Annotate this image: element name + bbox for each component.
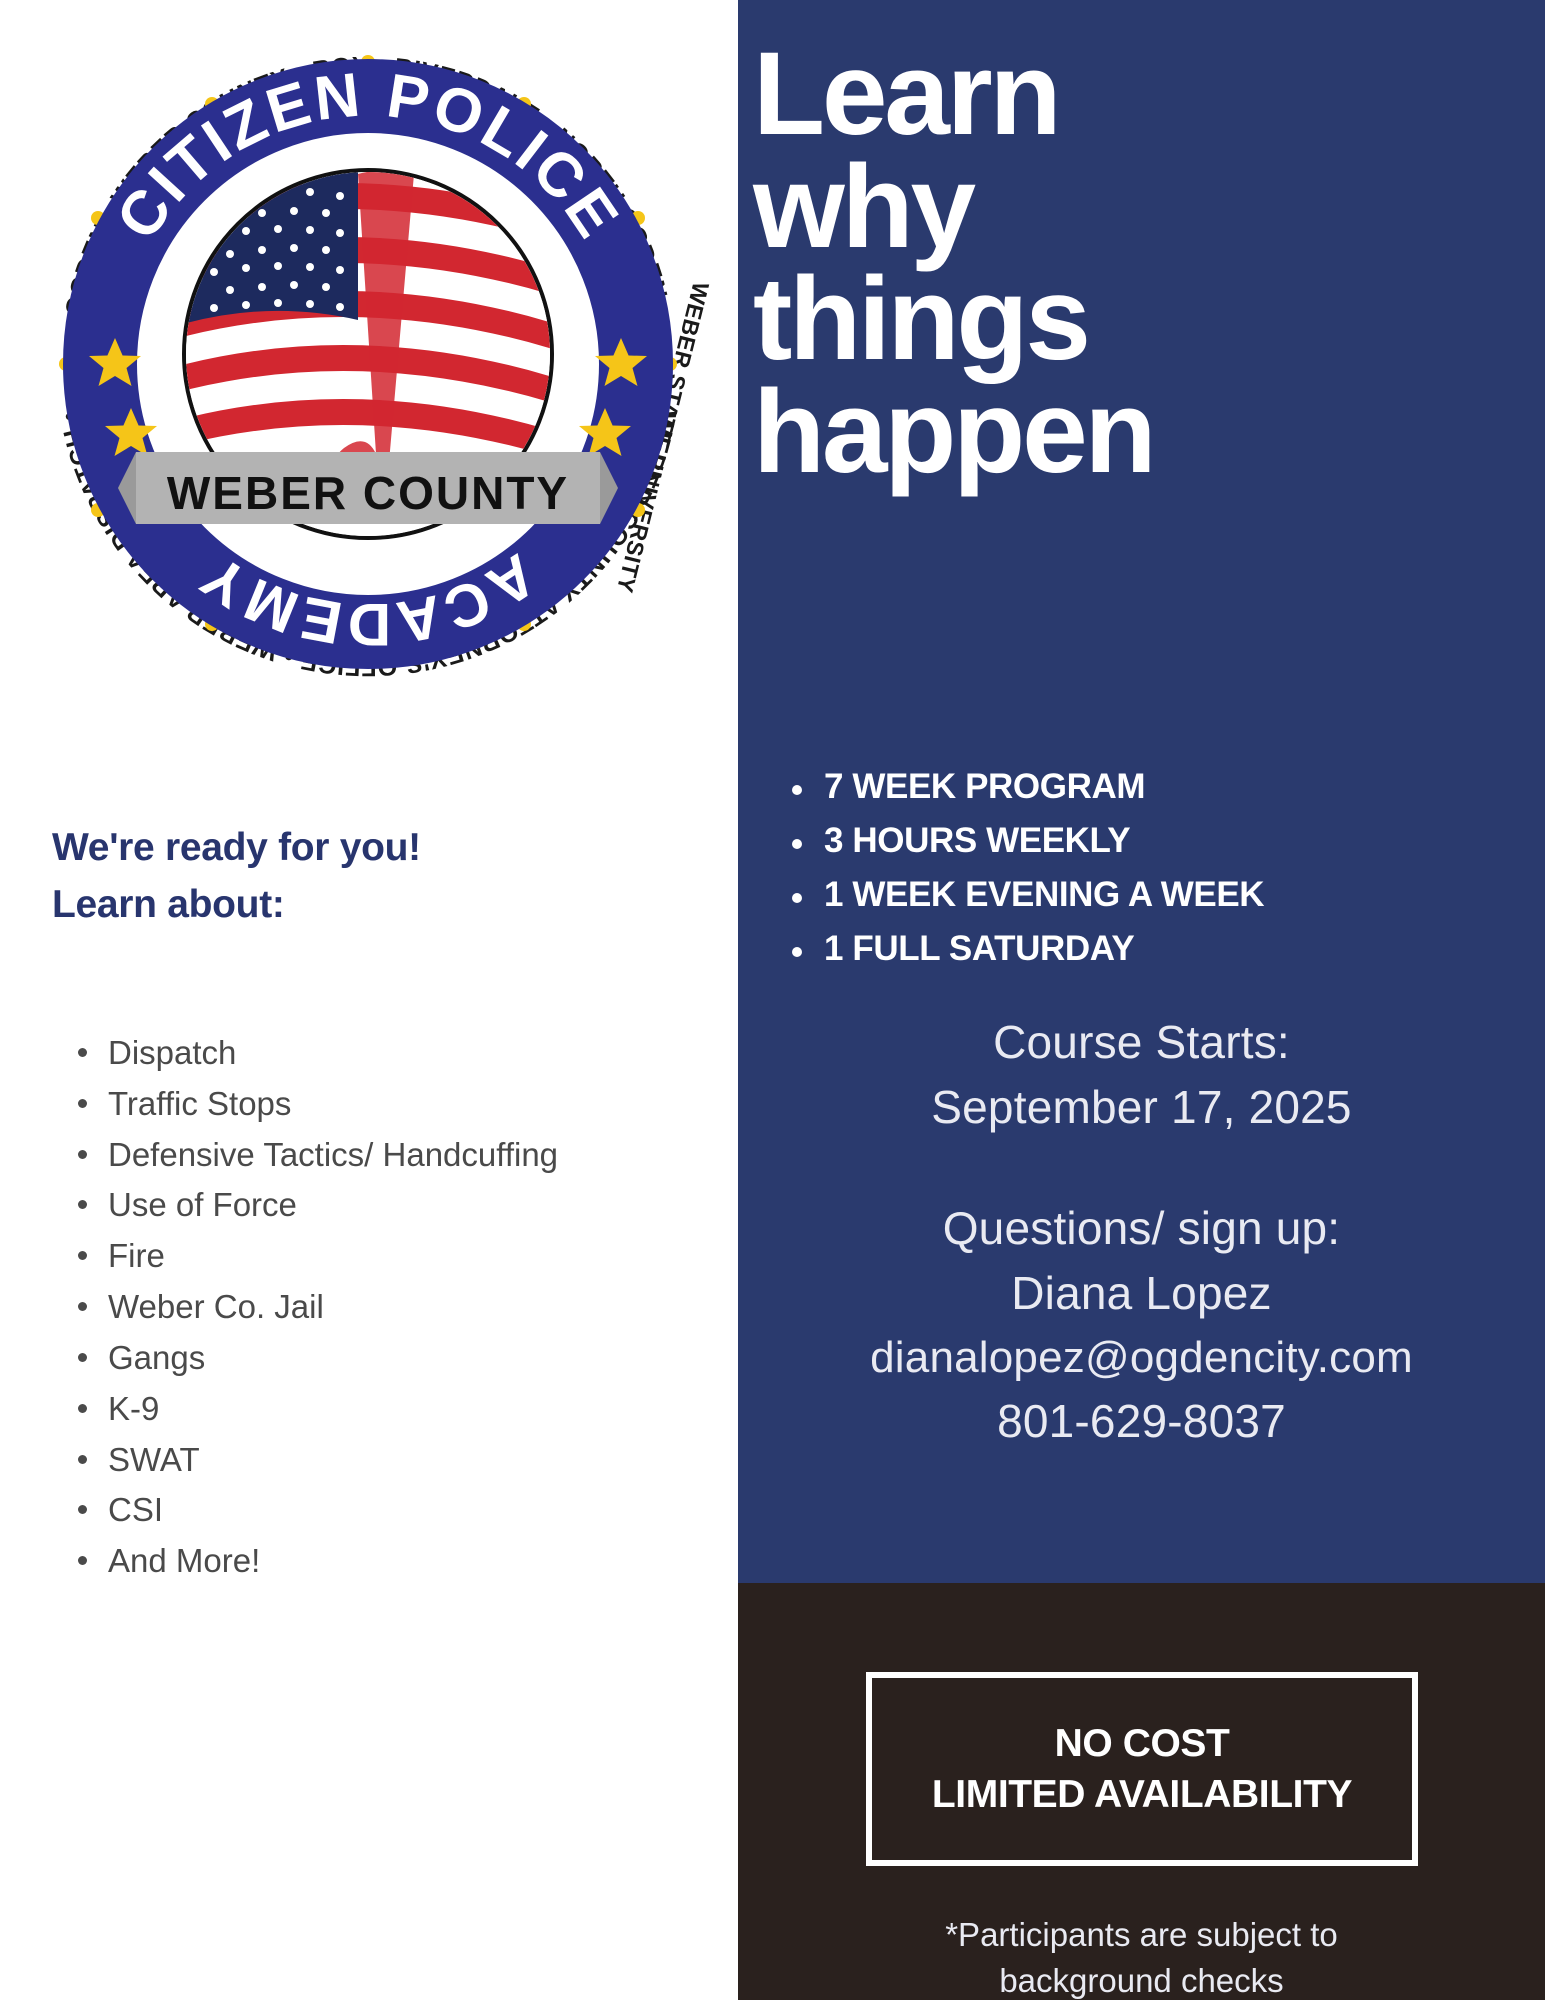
questions-label: Questions/ sign up:: [738, 1196, 1545, 1261]
course-start-block: Course Starts: September 17, 2025: [738, 1010, 1545, 1141]
course-starts-label: Course Starts:: [738, 1010, 1545, 1075]
weber-county-ribbon: WEBER COUNTY: [118, 452, 618, 524]
headline-line1: Learn: [753, 38, 1545, 151]
citizen-police-academy-badge: OGDEN • WEBER COUNTY • ROY • RIVERDALE •…: [18, 14, 718, 714]
list-item: 7 WEEK PROGRAM: [776, 760, 1536, 814]
cost-line-1: NO COST: [1055, 1718, 1230, 1769]
list-item: Traffic Stops: [72, 1079, 632, 1129]
footnote-line-2: background checks: [738, 1958, 1545, 2003]
list-item: SWAT: [72, 1435, 632, 1485]
cost-line-2: LIMITED AVAILABILITY: [932, 1769, 1352, 1820]
topics-list: Dispatch Traffic Stops Defensive Tactics…: [72, 1028, 632, 1587]
list-item: 1 FULL SATURDAY: [776, 922, 1536, 976]
page-title: Learn why things happen: [623, 38, 1545, 489]
list-item: CSI: [72, 1485, 632, 1535]
list-item: Gangs: [72, 1333, 632, 1383]
list-item: K-9: [72, 1384, 632, 1434]
list-item: And More!: [72, 1536, 632, 1586]
list-item: Use of Force: [72, 1180, 632, 1230]
list-item: 3 HOURS WEEKLY: [776, 814, 1536, 868]
footnote-line-1: *Participants are subject to: [738, 1912, 1545, 1958]
left-heading-line2: Learn about:: [52, 877, 692, 934]
left-heading-line1: We're ready for you!: [52, 820, 692, 877]
badge-svg: OGDEN • WEBER COUNTY • ROY • RIVERDALE •…: [18, 14, 718, 714]
flyer-page: OGDEN • WEBER COUNTY • ROY • RIVERDALE •…: [0, 0, 1545, 2000]
background-check-footnote: *Participants are subject to background …: [738, 1912, 1545, 2003]
no-cost-callout-box: NO COST LIMITED AVAILABILITY: [866, 1672, 1418, 1866]
right-column: Learn why things happen 7 WEEK PROGRAM 3…: [738, 0, 1545, 2000]
contact-phone[interactable]: 801-629-8037: [738, 1389, 1545, 1454]
contact-block: Questions/ sign up: Diana Lopez dianalop…: [738, 1196, 1545, 1454]
headline-line2: why: [753, 151, 1545, 264]
contact-name: Diana Lopez: [738, 1261, 1545, 1326]
list-item: Fire: [72, 1231, 632, 1281]
badge-graphic: OGDEN • WEBER COUNTY • ROY • RIVERDALE •…: [18, 14, 718, 714]
ribbon-label: WEBER COUNTY: [167, 467, 569, 519]
course-starts-date: September 17, 2025: [738, 1075, 1545, 1140]
left-heading: We're ready for you! Learn about:: [52, 820, 692, 934]
headline-line3: things: [753, 263, 1545, 376]
list-item: Weber Co. Jail: [72, 1282, 632, 1332]
contact-email[interactable]: dianalopez@ogdencity.com: [738, 1327, 1545, 1389]
headline-line4: happen: [753, 376, 1545, 489]
list-item: 1 WEEK EVENING A WEEK: [776, 868, 1536, 922]
program-details-list: 7 WEEK PROGRAM 3 HOURS WEEKLY 1 WEEK EVE…: [776, 760, 1536, 976]
list-item: Dispatch: [72, 1028, 632, 1078]
list-item: Defensive Tactics/ Handcuffing: [72, 1130, 632, 1180]
